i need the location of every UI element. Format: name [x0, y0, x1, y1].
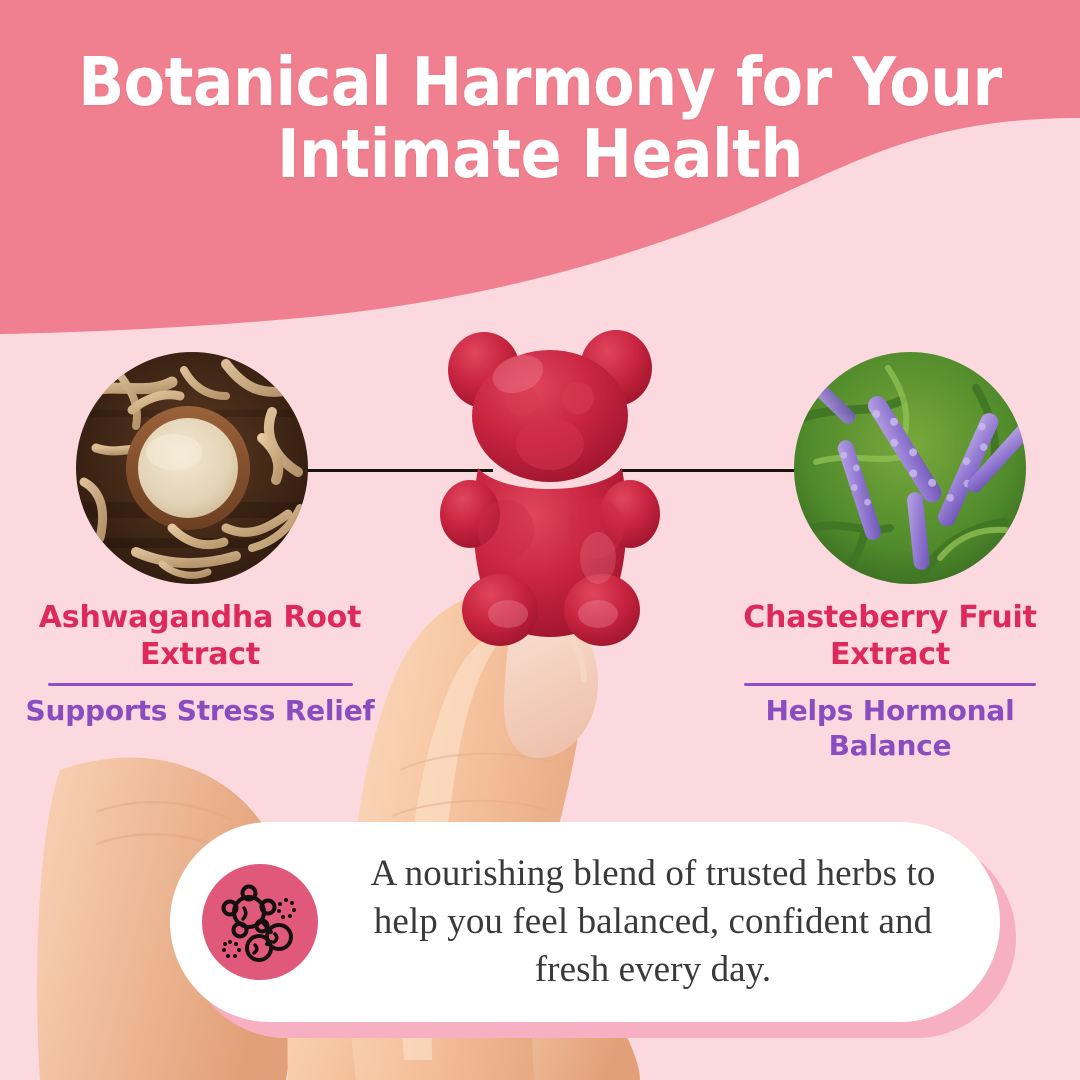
callout-description: A nourishing blend of trusted herbs to h…: [340, 850, 966, 994]
ingredient-divider-right: [744, 683, 1036, 686]
callout-card: A nourishing blend of trusted herbs to h…: [170, 822, 1000, 1022]
ingredient-label-chasteberry: Chasteberry Fruit Extract Helps Hormonal…: [714, 600, 1066, 764]
ingredient-benefit-ashwagandha: Supports Stress Relief: [18, 694, 382, 729]
ingredient-name-ashwagandha: Ashwagandha Root Extract: [18, 600, 382, 673]
molecule-probiotic-icon: [202, 864, 318, 980]
page-title-line-1: Botanical Harmony for Your: [78, 43, 1002, 121]
ingredient-label-ashwagandha: Ashwagandha Root Extract Supports Stress…: [18, 600, 382, 729]
infographic-canvas: Botanical Harmony for Your Intimate Heal…: [0, 0, 1080, 1080]
page-title: Botanical Harmony for Your Intimate Heal…: [0, 46, 1080, 191]
ingredient-divider-left: [48, 683, 353, 686]
ingredient-benefit-chasteberry: Helps Hormonal Balance: [714, 694, 1066, 763]
ingredient-name-chasteberry: Chasteberry Fruit Extract: [714, 600, 1066, 673]
page-title-line-2: Intimate Health: [0, 118, 1080, 190]
